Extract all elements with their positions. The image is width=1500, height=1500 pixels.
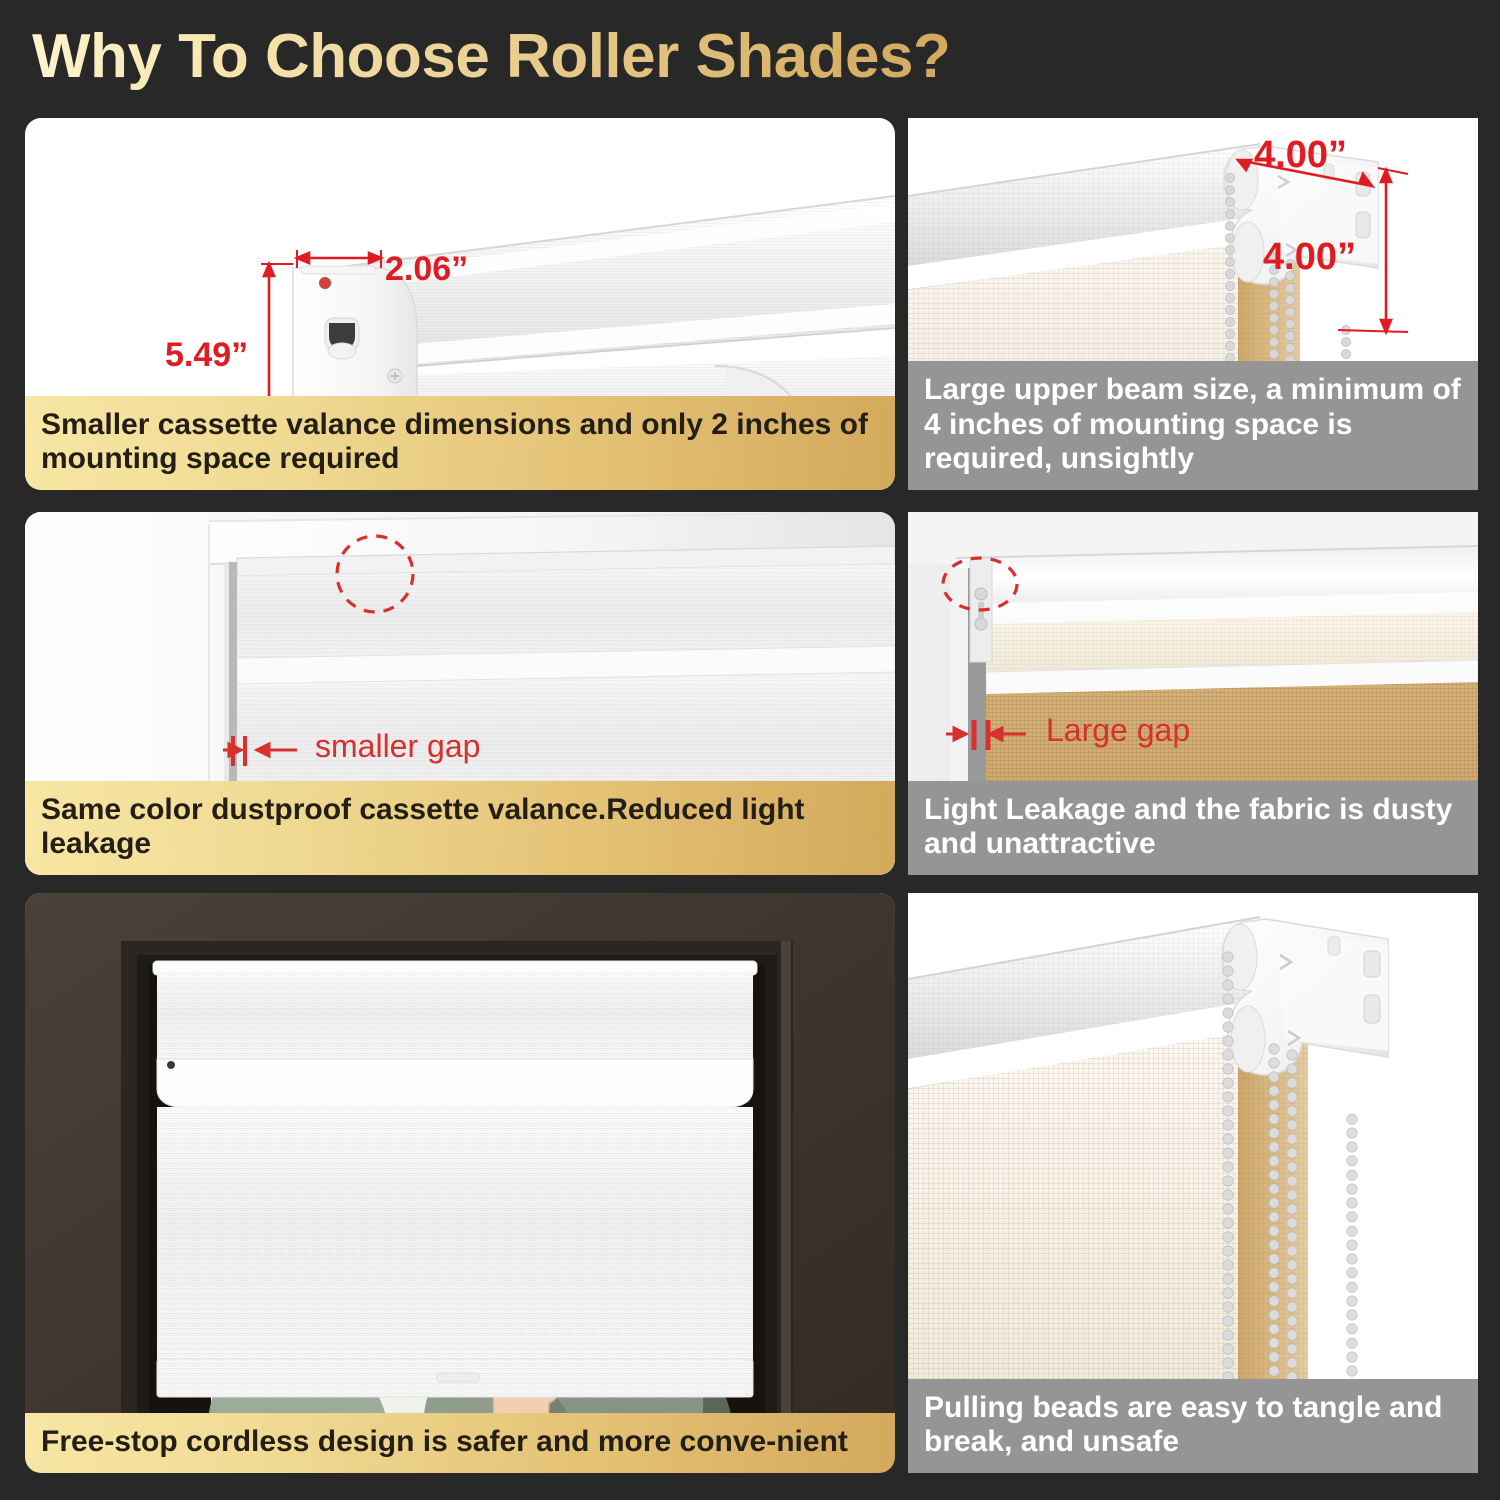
window-cordless-illustration <box>25 893 895 1473</box>
dimension-label-beam-width: 4.00” <box>1254 134 1347 177</box>
annotation-smaller-gap: smaller gap <box>315 728 480 765</box>
panel-2-caption: Large upper beam size, a minimum of 4 in… <box>908 361 1478 490</box>
panel-pulling-beads: Pulling beads are easy to tangle and bre… <box>908 893 1478 1473</box>
panel-smaller-gap: smaller gap Same color dustproof cassett… <box>25 512 895 875</box>
panel-5-artwork <box>25 893 895 1473</box>
panel-cassette-dimensions: 2.06” 5.49” Smaller cassette valance dim… <box>25 118 895 490</box>
panel-large-upper-beam: 4.00” 4.00” Large upper beam size, a min… <box>908 118 1478 490</box>
panel-1-caption: Smaller cassette valance dimensions and … <box>25 396 895 490</box>
dimension-label-beam-height: 4.00” <box>1263 236 1356 279</box>
panel-4-caption: Light Leakage and the fabric is dusty an… <box>908 781 1478 875</box>
annotation-large-gap: Large gap <box>1046 712 1190 749</box>
dimension-label-width: 2.06” <box>385 250 468 289</box>
panel-3-caption: Same color dustproof cassette valance.Re… <box>25 781 895 875</box>
panel-large-gap: Large gap Light Leakage and the fabric i… <box>908 512 1478 875</box>
panel-6-caption: Pulling beads are easy to tangle and bre… <box>908 1379 1478 1473</box>
panel-5-caption: Free-stop cordless design is safer and m… <box>25 1413 895 1473</box>
panel-cordless-design: Free-stop cordless design is safer and m… <box>25 893 895 1473</box>
page-title: Why To Choose Roller Shades? <box>32 16 1072 98</box>
dimension-label-height: 5.49” <box>165 336 248 375</box>
